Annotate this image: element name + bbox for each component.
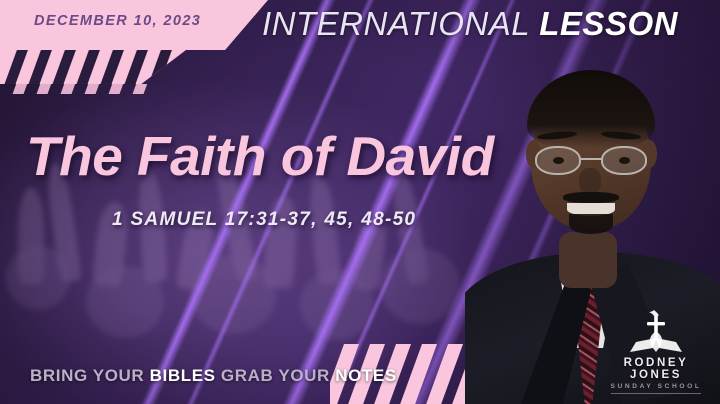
eye-left (553, 157, 564, 164)
cta-part-3: GRAB YOUR (216, 366, 336, 385)
cross-dove-book-icon (600, 308, 712, 356)
logo-subtitle: SUNDAY SCHOOL (600, 383, 712, 390)
scripture-reference: 1 SAMUEL 17:31-37, 45, 48-50 (112, 209, 416, 231)
lesson-date: DECEMBER 10, 2023 (34, 13, 201, 29)
mustache (563, 192, 619, 203)
lesson-poster: DECEMBER 10, 2023 INTERNATIONAL LESSON T… (0, 0, 720, 404)
call-to-action: BRING YOUR BIBLES GRAB YOUR NOTES (30, 366, 397, 386)
brand-logo: RODNEY JONES SUNDAY SCHOOL (600, 308, 712, 396)
eye-right (619, 157, 630, 164)
lesson-title: The Faith of David (26, 124, 494, 188)
glasses-bridge (581, 158, 603, 160)
cta-part-notes: NOTES (335, 366, 397, 385)
chin-beard (569, 214, 613, 234)
logo-divider (611, 393, 701, 394)
cta-part-1: BRING YOUR (30, 366, 150, 385)
nose (579, 168, 601, 194)
logo-name: RODNEY JONES (600, 357, 712, 381)
top-left-stripe-echo (10, 84, 190, 94)
neck (559, 232, 617, 288)
cta-part-bibles: BIBLES (150, 366, 216, 385)
